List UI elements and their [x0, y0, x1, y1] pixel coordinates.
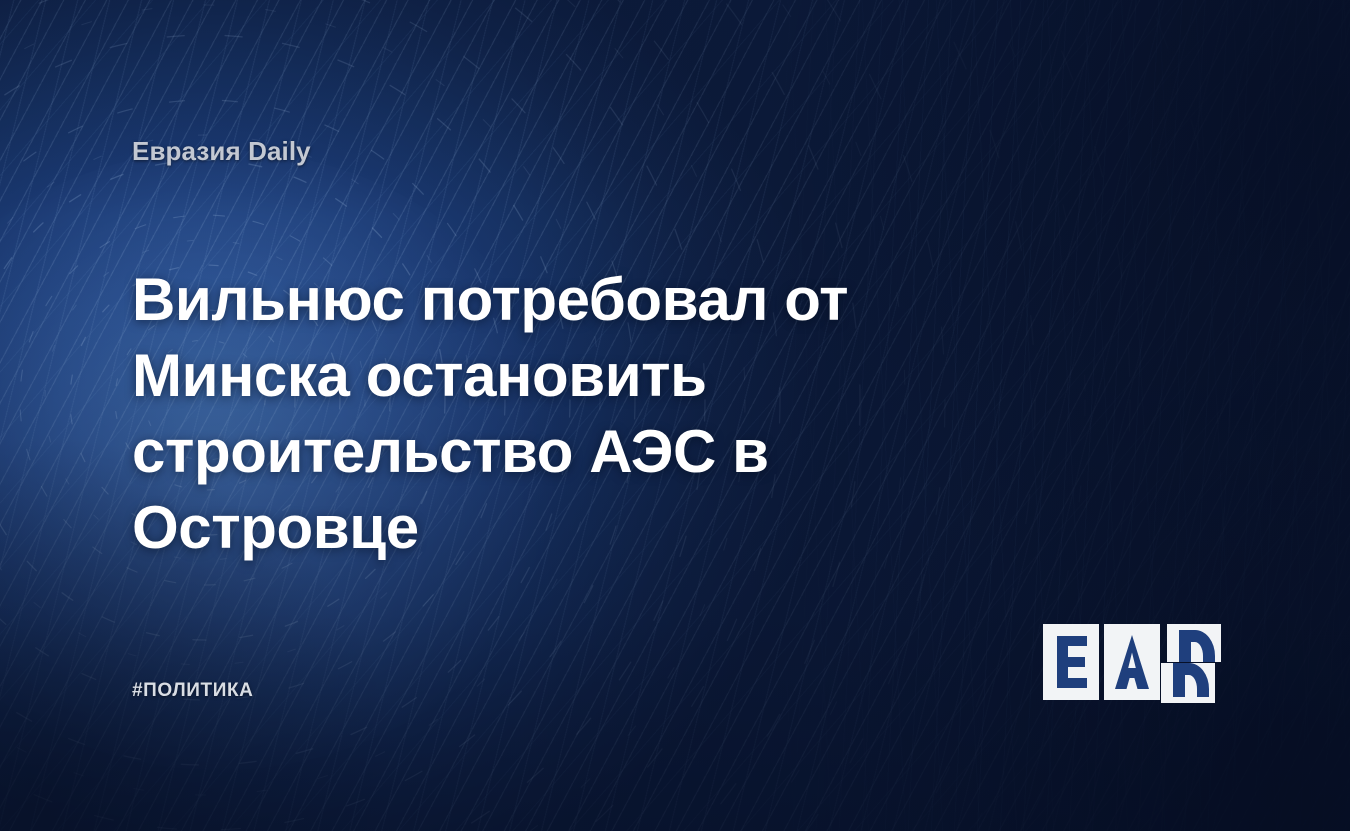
logo-tile-d-lower	[1161, 663, 1215, 703]
social-share-card: Евразия Daily Вильнюс потребовал от Минс…	[0, 0, 1350, 831]
logo-tile-d-upper	[1167, 624, 1221, 662]
source-publication-name: Евразия Daily	[132, 136, 311, 167]
page-title: Вильнюс потребовал от Минска остановить …	[132, 262, 1032, 566]
logo-tile-a	[1104, 624, 1160, 700]
logo-tile-e	[1043, 624, 1099, 700]
eadaily-logo[interactable]	[1043, 624, 1221, 704]
category-hashtag: #ПОЛИТИКА	[132, 680, 254, 702]
